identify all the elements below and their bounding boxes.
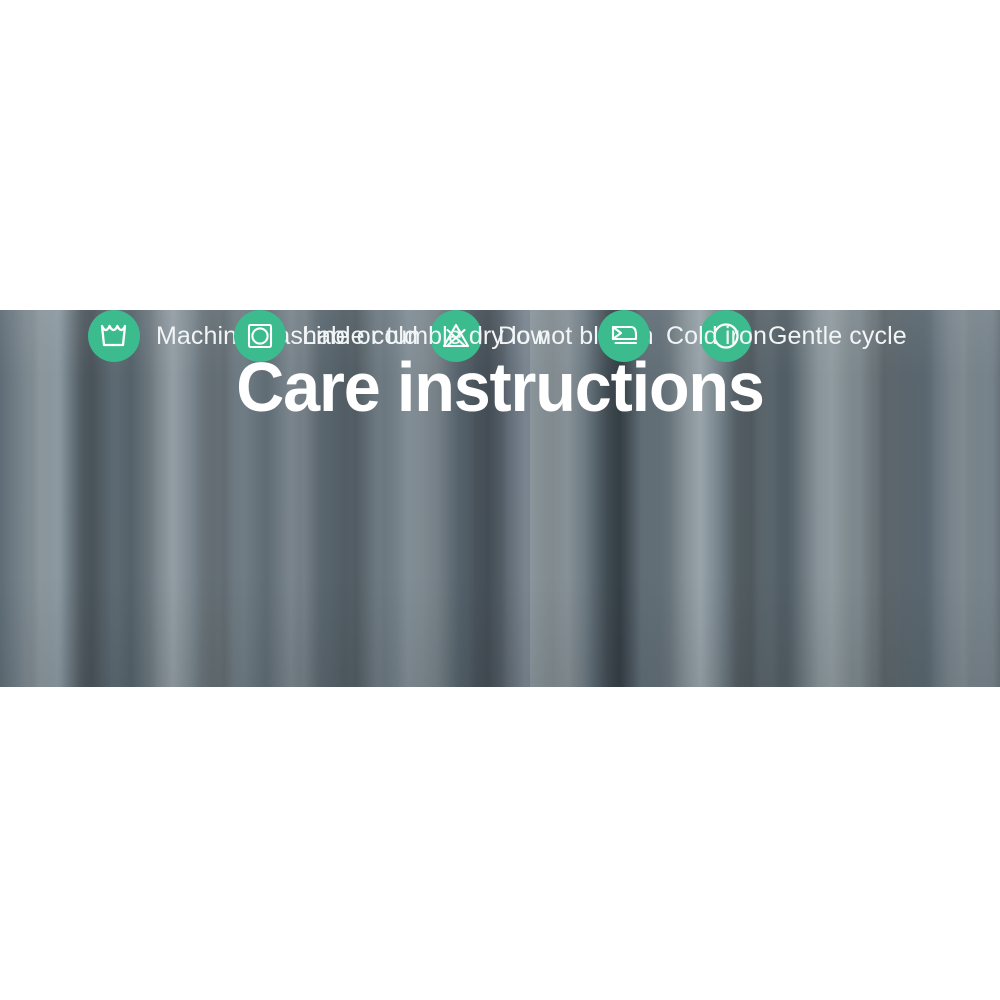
tumble-dry-square-icon	[234, 310, 286, 362]
care-label: Line or tumble dry low	[302, 324, 549, 349]
care-instructions-banner: Care instructions Machine washable cold	[0, 310, 1000, 687]
iron-icon	[598, 310, 650, 362]
wash-tub-icon	[88, 310, 140, 362]
care-item-cold-iron: Cold iron	[598, 310, 767, 362]
page-title: Care instructions	[25, 352, 975, 422]
care-label: Gentle cycle	[768, 324, 907, 349]
banner-content: Care instructions Machine washable cold	[0, 310, 1000, 687]
care-label: Cold iron	[666, 324, 767, 349]
care-item-line-or-tumble-dry-low: Line or tumble dry low	[234, 310, 549, 362]
